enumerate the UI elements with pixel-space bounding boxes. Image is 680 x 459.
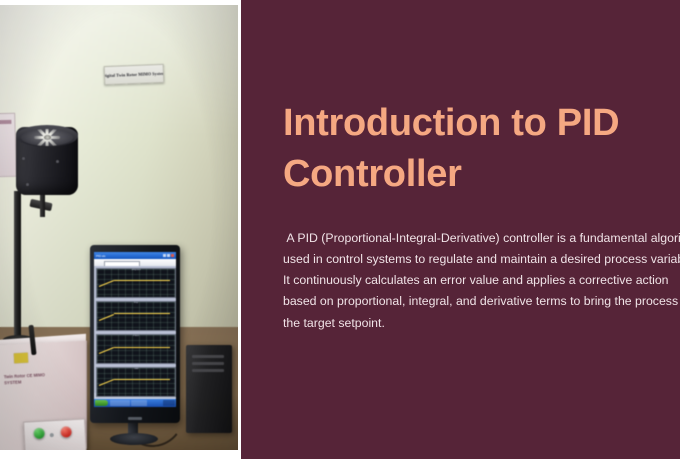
start-button[interactable] xyxy=(33,428,45,440)
stop-button[interactable] xyxy=(60,426,72,438)
tower-drive-slot xyxy=(192,355,224,358)
computer-tower xyxy=(186,345,232,433)
scope-pane: Pitch xyxy=(96,334,176,365)
taskbar-item[interactable] xyxy=(110,400,130,406)
tower-drive-slot xyxy=(192,369,224,372)
scope-pane-label: Setpoint xyxy=(97,268,175,271)
lab-photo: Digital Twin Rotor MIMO System xyxy=(0,5,238,450)
computer-monitor: PID.slx Setpoint xyxy=(90,245,180,423)
scope-pane: PID xyxy=(96,301,176,332)
window-controls[interactable] xyxy=(163,254,175,257)
taskbar-item[interactable] xyxy=(131,400,147,406)
scope-pane-label: PID xyxy=(97,301,175,304)
wall-sign-text: Digital Twin Rotor MIMO System xyxy=(104,71,165,78)
slide: Digital Twin Rotor MIMO System xyxy=(0,0,680,459)
window-titlebar: PID.slx xyxy=(94,252,176,259)
maximize-icon[interactable] xyxy=(167,254,170,257)
taskbar[interactable] xyxy=(94,399,176,407)
wall-sign: Digital Twin Rotor MIMO System xyxy=(104,64,165,85)
monitor-screen[interactable]: PID.slx Setpoint xyxy=(94,252,176,407)
scope-trace xyxy=(114,280,170,281)
scope-trace xyxy=(114,347,170,348)
scope-pane: Yaw xyxy=(96,367,176,398)
scope-trace xyxy=(114,313,170,314)
scope-window: Setpoint PID Pitch xyxy=(94,266,176,393)
tower-drive-slot xyxy=(192,362,224,365)
button-console[interactable] xyxy=(23,418,87,450)
window-title: PID.slx xyxy=(95,254,106,258)
content-panel: Introduction to PID Controller A PID (Pr… xyxy=(241,0,680,459)
minimize-icon[interactable] xyxy=(163,254,166,257)
propeller-hub xyxy=(44,135,51,140)
indicator-led xyxy=(50,433,54,437)
scope-pane-label: Yaw xyxy=(97,367,175,370)
scope-pane: Setpoint xyxy=(96,268,176,299)
close-icon[interactable] xyxy=(171,254,174,257)
housing-screw xyxy=(26,183,29,186)
body-paragraph: A PID (Proportional-Integral-Derivative)… xyxy=(283,228,680,334)
monitor-stand-base xyxy=(110,433,158,445)
rotor-stand-pole xyxy=(14,191,21,341)
housing-screw xyxy=(56,160,59,163)
system-tray[interactable] xyxy=(163,400,175,406)
wall-card xyxy=(0,113,17,178)
monitor-brand-logo xyxy=(128,417,142,420)
scope-trace xyxy=(114,379,170,380)
equipment-sticker xyxy=(14,353,29,364)
housing-screw xyxy=(22,157,25,160)
wall-card-stripe xyxy=(0,120,11,124)
rotor-propeller xyxy=(21,129,73,146)
start-menu-button[interactable] xyxy=(95,400,108,406)
scope-pane-label: Pitch xyxy=(97,334,175,337)
page-title: Introduction to PID Controller xyxy=(283,98,680,199)
